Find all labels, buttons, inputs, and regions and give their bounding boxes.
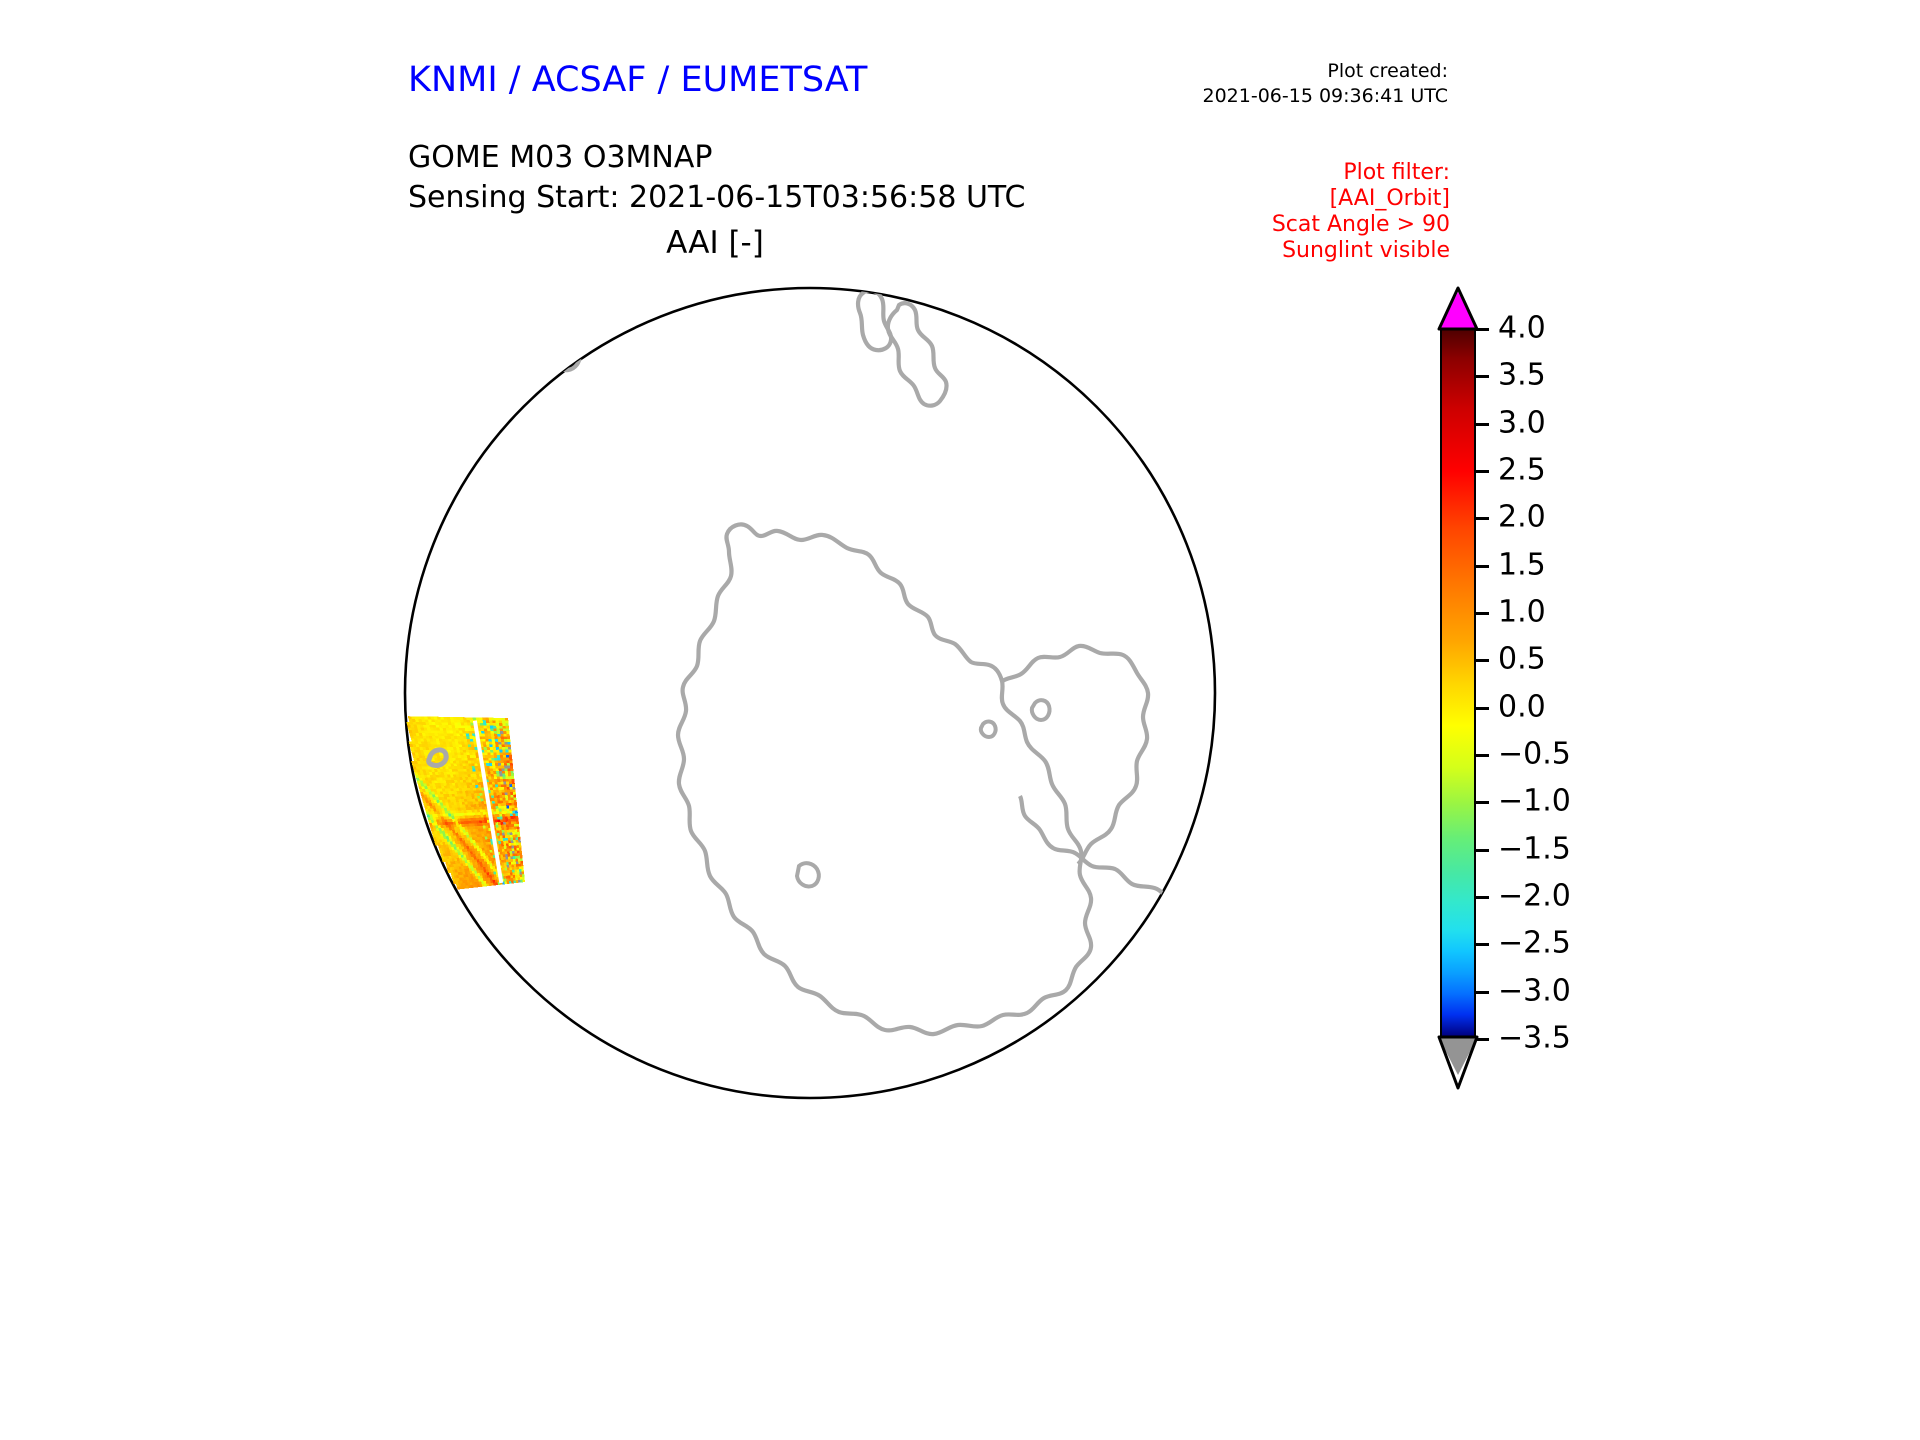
swath-pixel [494,736,498,739]
swath-pixel [505,854,508,857]
swath-pixel [515,856,518,859]
swath-pixel [493,752,496,755]
swath-pixel [470,788,473,791]
swath-pixel [510,795,513,798]
swath-pixel [515,835,518,838]
swath-pixel [456,777,459,780]
swath-pixel [520,877,523,880]
swath-pixel [511,800,514,803]
swath-pixel [499,846,502,849]
swath-pixel [455,758,459,761]
swath-pixel [505,792,508,795]
swath-pixel [469,766,473,769]
swath-pixel [458,772,462,775]
swath-pixel [482,864,485,867]
swath-pixel [501,784,504,787]
swath-pixel [471,761,475,764]
swath-pixel [474,807,477,810]
swath-pixel [463,720,467,723]
swath-pixel [498,841,501,844]
swath-pixel [503,758,506,761]
swath-pixel [448,766,452,769]
swath-pixel [510,835,513,838]
swath-pixel [459,774,462,777]
swath-pixel [485,758,488,761]
swath-pixel [486,842,489,845]
swath-pixel [460,733,464,736]
swath-pixel [489,847,492,850]
swath-pixel [517,853,520,856]
swath-pixel [501,809,504,812]
swath-pixel [454,766,458,769]
swath-pixel [505,870,508,873]
swath-pixel [501,790,504,793]
swath-pixel [506,843,509,846]
swath-pixel [470,772,473,775]
swath-pixel [504,876,507,879]
swath-pixel [485,850,488,853]
sensing-start: Sensing Start: 2021-06-15T03:56:58 UTC [408,180,1025,215]
swath-pixel [494,734,497,737]
swath-pixel [501,739,504,742]
swath-pixel [507,849,510,852]
swath-pixel [509,867,512,870]
colorbar-tick [1476,707,1489,710]
swath-pixel [505,744,508,747]
swath-pixel [483,853,486,856]
swath-pixel [454,723,458,726]
swath-pixel [501,827,504,830]
swath-pixel [471,807,474,810]
swath-pixel [439,725,443,728]
swath-pixel [501,846,504,849]
swath-pixel [499,793,502,796]
swath-pixel [456,774,460,777]
swath-pixel [473,788,476,791]
swath-pixel [510,766,513,769]
swath-pixel [504,742,507,745]
swath-pixel [499,844,502,847]
colorbar-tick-label: −2.5 [1498,926,1571,961]
swath-pixel [504,827,507,830]
swath-pixel [506,822,509,825]
swath-pixel [507,739,510,742]
swath-pixel [509,779,512,782]
swath-pixel [503,873,506,876]
swath-pixel [499,774,502,777]
swath-pixel [448,788,451,791]
swath-pixel [486,742,489,745]
swath-pixel [514,797,517,800]
swath-pixel [502,795,505,798]
swath-pixel [508,800,511,803]
swath-pixel [496,809,499,812]
swath-pixel [510,787,513,790]
swath-pixel [441,736,445,739]
swath-pixel [496,828,499,831]
swath-pixel [513,878,516,881]
swath-pixel [487,750,490,753]
swath-pixel [499,726,503,729]
swath-pixel [496,728,500,731]
swath-pixel [452,797,455,800]
swath-pixel [477,777,480,780]
swath-pixel [444,733,448,736]
swath-pixel [504,843,507,846]
swath-pixel [510,873,513,876]
swath-pixel [460,794,463,797]
swath-pixel [518,842,521,845]
swath-pixel [452,742,456,745]
swath-pixel [501,763,504,766]
swath-pixel [507,734,510,737]
swath-pixel [481,818,484,821]
swath-pixel [513,835,516,838]
swath-pixel [485,755,488,758]
swath-pixel [481,804,484,807]
swath-pixel [455,769,459,772]
swath-pixel [448,725,452,728]
swath-pixel [496,726,500,729]
swath-pixel [462,731,466,734]
swath-pixel [484,834,487,837]
swath-pixel [446,742,450,745]
swath-pixel [453,788,456,791]
swath-pixel [492,782,495,785]
swath-pixel [483,720,487,723]
swath-pixel [507,766,510,769]
swath-pixel [493,809,496,812]
swath-pixel [510,851,513,854]
swath-pixel [472,796,475,799]
swath-pixel [438,736,442,739]
swath-pixel [519,866,522,869]
swath-pixel [470,742,474,745]
swath-pixel [432,722,436,725]
swath-pixel [504,768,507,771]
swath-pixel [495,822,498,825]
swath-pixel [453,761,457,764]
swath-pixel [466,780,469,783]
swath-pixel [503,803,506,806]
swath-pixel [512,829,515,832]
swath-pixel [477,810,480,813]
swath-pixel [504,811,507,814]
swath-pixel [457,720,461,723]
swath-pixel [486,761,489,764]
swath-pixel [460,780,464,783]
swath-pixel [521,866,524,869]
swath-pixel [483,723,487,726]
swath-pixel [463,734,467,737]
swath-pixel [485,823,488,826]
swath-pixel [500,758,503,761]
plot-filter-line-1: [AAI_Orbit] [1140,186,1450,212]
swath-pixel [501,742,504,745]
swath-pixel [485,875,488,878]
colorbar-tick-label: 2.5 [1498,453,1546,488]
swath-pixel [499,747,502,750]
swath-pixel [477,780,480,783]
colorbar-tick [1476,375,1489,378]
swath-pixel [503,734,506,737]
swath-pixel [458,796,461,799]
swath-pixel [513,813,516,816]
swath-pixel [511,819,514,822]
swath-pixel [489,844,492,847]
swath-pixel [494,774,497,777]
swath-pixel [466,753,470,756]
swath-pixel [505,868,508,871]
swath-pixel [516,861,519,864]
swath-pixel [498,803,501,806]
swath-pixel [503,841,506,844]
swath-pixel [484,845,487,848]
swath-pixel [484,747,488,750]
swath-pixel [489,785,492,788]
swath-pixel [502,865,505,868]
swath-pixel [504,849,507,852]
swath-pixel [510,832,513,835]
swath-pixel [512,872,515,875]
swath-pixel [510,838,513,841]
swath-pixel [467,785,470,788]
swath-pixel [464,755,468,758]
swath-pixel [508,750,511,753]
swath-pixel [457,791,460,794]
swath-pixel [517,850,520,853]
swath-pixel [493,793,496,796]
swath-pixel [468,777,471,780]
swath-pixel [491,736,495,739]
plot-filter-line-2: Scat Angle > 90 [1140,212,1450,238]
swath-pixel [468,744,472,747]
swath-pixel [514,851,517,854]
swath-pixel [469,736,473,739]
swath-pixel [475,785,478,788]
swath-pixel [518,877,521,880]
swath-pixel [501,760,504,763]
swath-pixel [491,869,494,872]
swath-pixel [460,717,464,720]
swath-pixel [505,747,508,750]
swath-pixel [471,780,474,783]
swath-pixel [474,793,477,796]
swath-pixel [492,785,495,788]
swath-pixel [471,777,474,780]
swath-pixel [511,797,514,800]
swath-pixel [494,817,497,820]
swath-pixel [464,788,467,791]
swath-pixel [498,785,501,788]
swath-pixel [516,880,519,883]
swath-pixel [436,739,440,742]
swath-pixel [495,801,498,804]
colorbar-tick-label: −2.0 [1498,879,1571,914]
swath-pixel [492,761,495,764]
swath-pixel [471,793,474,796]
swath-pixel [482,809,485,812]
swath-pixel [520,856,523,859]
swath-pixel [505,838,508,841]
swath-pixel [441,720,445,723]
swath-pixel [454,780,458,783]
swath-pixel [515,859,518,862]
swath-pixel [503,726,506,729]
swath-pixel [437,758,441,761]
swath-pixel [440,717,444,720]
swath-pixel [511,774,514,777]
swath-pixel [511,803,514,806]
swath-pixel [482,718,486,721]
swath-pixel [457,766,461,769]
swath-pixel [463,780,466,783]
swath-pixel [455,728,459,731]
swath-pixel [461,755,465,758]
swath-pixel [498,763,501,766]
swath-pixel [499,828,502,831]
swath-pixel [491,734,495,737]
swath-pixel [501,736,504,739]
swath-pixel [502,798,505,801]
swath-pixel [517,856,520,859]
swath-pixel [500,801,503,804]
swath-pixel [440,769,444,772]
swath-pixel [441,722,445,725]
swath-pixel [490,790,493,793]
swath-pixel [515,837,518,840]
swath-pixel [512,811,515,814]
swath-pixel [489,763,492,766]
swath-pixel [504,830,507,833]
swath-pixel [496,750,499,753]
swath-pixel [453,717,457,720]
swath-pixel [450,731,454,734]
swath-pixel [511,779,514,782]
swath-pixel [461,769,464,772]
swath-pixel [499,833,502,836]
swath-pixel [514,867,517,870]
swath-pixel [503,857,506,860]
swath-pixel [490,787,493,790]
swath-pixel [434,717,438,720]
swath-pixel [513,856,516,859]
swath-pixel [483,742,487,745]
swath-pixel [489,766,492,769]
swath-pixel [478,801,481,804]
swath-pixel [471,763,474,766]
swath-pixel [497,777,500,780]
swath-pixel [462,791,465,794]
swath-pixel [482,820,485,823]
swath-pixel [458,769,462,772]
swath-pixel [452,758,456,761]
swath-pixel [505,795,508,798]
swath-pixel [505,771,508,774]
swath-pixel [455,744,459,747]
swath-pixel [480,809,483,812]
swath-pixel [503,819,506,822]
swath-pixel [489,744,493,747]
swath-pixel [454,739,458,742]
swath-pixel [502,750,505,753]
swath-pixel [509,782,512,785]
swath-pixel [484,820,487,823]
swath-pixel [502,744,505,747]
swath-pixel [494,777,497,780]
plot-canvas: KNMI / ACSAF / EUMETSAT Plot created: 20… [0,0,1920,1440]
swath-pixel [490,877,493,880]
swath-pixel [480,876,483,879]
swath-pixel [502,774,505,777]
swath-pixel [516,843,519,846]
swath-pixel [449,794,452,797]
swath-pixel [492,744,495,747]
swath-pixel [474,796,477,799]
swath-pixel [498,806,501,809]
swath-pixel [507,737,510,740]
swath-pixel [456,717,460,720]
swath-pixel [456,761,460,764]
swath-pixel [507,868,510,871]
swath-pixel [467,772,470,775]
swath-pixel [471,843,474,846]
swath-pixel [492,742,496,745]
swath-pixel [461,725,465,728]
swath-pixel [487,834,490,837]
swath-pixel [500,852,503,855]
swath-pixel [493,790,496,793]
swath-pixel [479,804,482,807]
swath-pixel [494,731,498,734]
colorbar-tick-label: −3.5 [1498,1021,1571,1056]
swath-pixel [479,720,483,723]
swath-pixel [453,786,456,789]
swath-pixel [503,860,506,863]
swath-pixel [497,731,500,734]
swath-pixel [452,744,456,747]
swath-pixel [449,783,453,786]
swath-pixel [460,783,463,786]
swath-pixel [467,720,471,723]
swath-pixel [514,864,517,867]
swath-pixel [464,772,468,775]
swath-pixel [477,793,480,796]
swath-pixel [499,790,502,793]
swath-pixel [465,744,469,747]
swath-pixel [476,771,479,774]
swath-pixel [507,787,510,790]
swath-pixel [466,769,470,772]
swath-pixel [482,862,485,865]
swath-pixel [473,758,477,761]
swath-pixel [489,779,492,782]
swath-pixel [508,822,511,825]
swath-pixel [461,742,465,745]
swath-pixel [463,753,467,756]
swath-pixel [492,763,495,766]
swath-pixel [460,720,464,723]
swath-pixel [517,848,520,851]
swath-pixel [469,750,473,753]
colorbar-tick [1476,1038,1489,1041]
swath-pixel [513,795,516,798]
swath-pixel [508,747,511,750]
swath-pixel [511,846,514,849]
swath-pixel [468,780,471,783]
australia-south-coast [465,280,567,306]
swath-pixel [487,771,490,774]
